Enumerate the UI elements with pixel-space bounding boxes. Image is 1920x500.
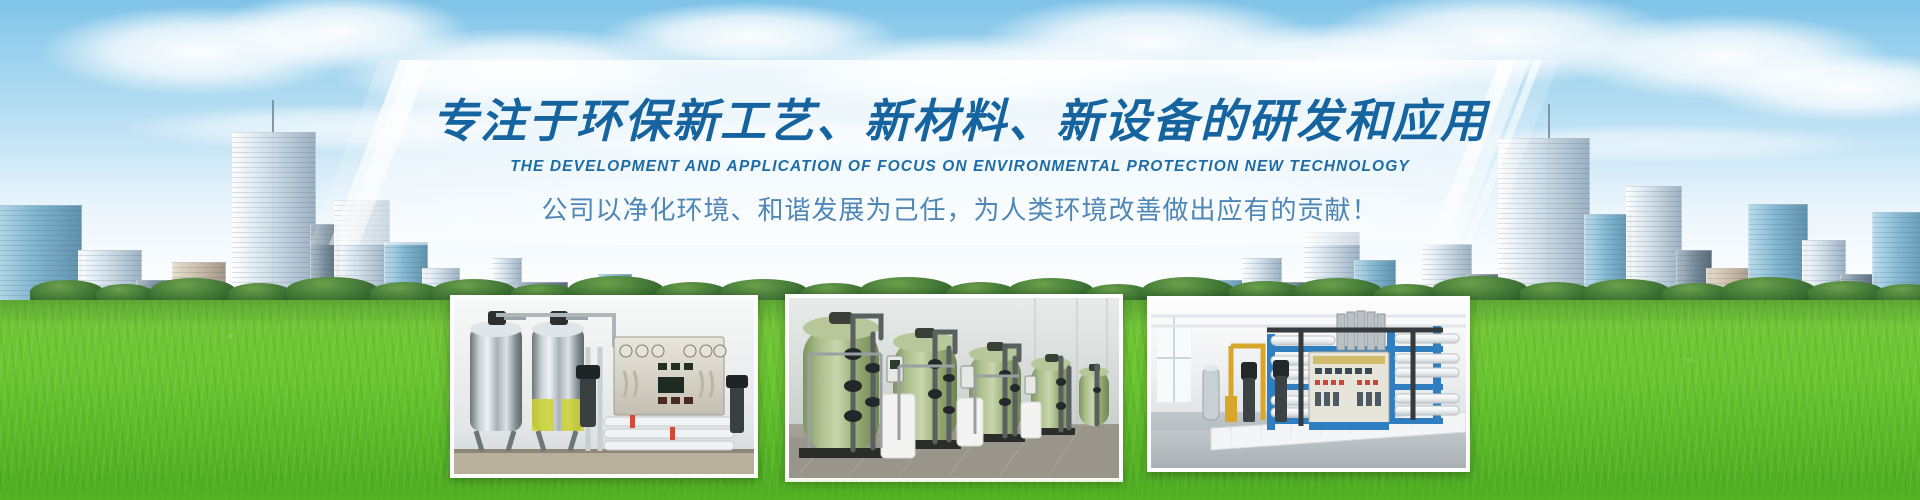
banner-headline: 专注于环保新工艺、新材料、新设备的研发和应用 bbox=[0, 96, 1920, 148]
product-photo-strip bbox=[0, 302, 1920, 482]
banner-subline-english: THE DEVELOPMENT AND APPLICATION OF FOCUS… bbox=[0, 158, 1920, 176]
product-photo-2[interactable] bbox=[785, 294, 1123, 482]
banner-copy: 专注于环保新工艺、新材料、新设备的研发和应用 THE DEVELOPMENT A… bbox=[0, 96, 1920, 227]
promo-banner: 专注于环保新工艺、新材料、新设备的研发和应用 THE DEVELOPMENT A… bbox=[0, 0, 1920, 500]
banner-tagline: 公司以净化环境、和谐发展为己任，为人类环境改善做出应有的贡献！ bbox=[0, 190, 1920, 227]
green-frp-tank-array-illustration bbox=[789, 298, 1119, 478]
stainless-steel-ro-system-illustration bbox=[454, 299, 754, 474]
product-photo-3[interactable] bbox=[1147, 296, 1470, 472]
industrial-ro-membrane-plant-illustration bbox=[1151, 300, 1466, 468]
product-photo-1[interactable] bbox=[450, 295, 758, 478]
